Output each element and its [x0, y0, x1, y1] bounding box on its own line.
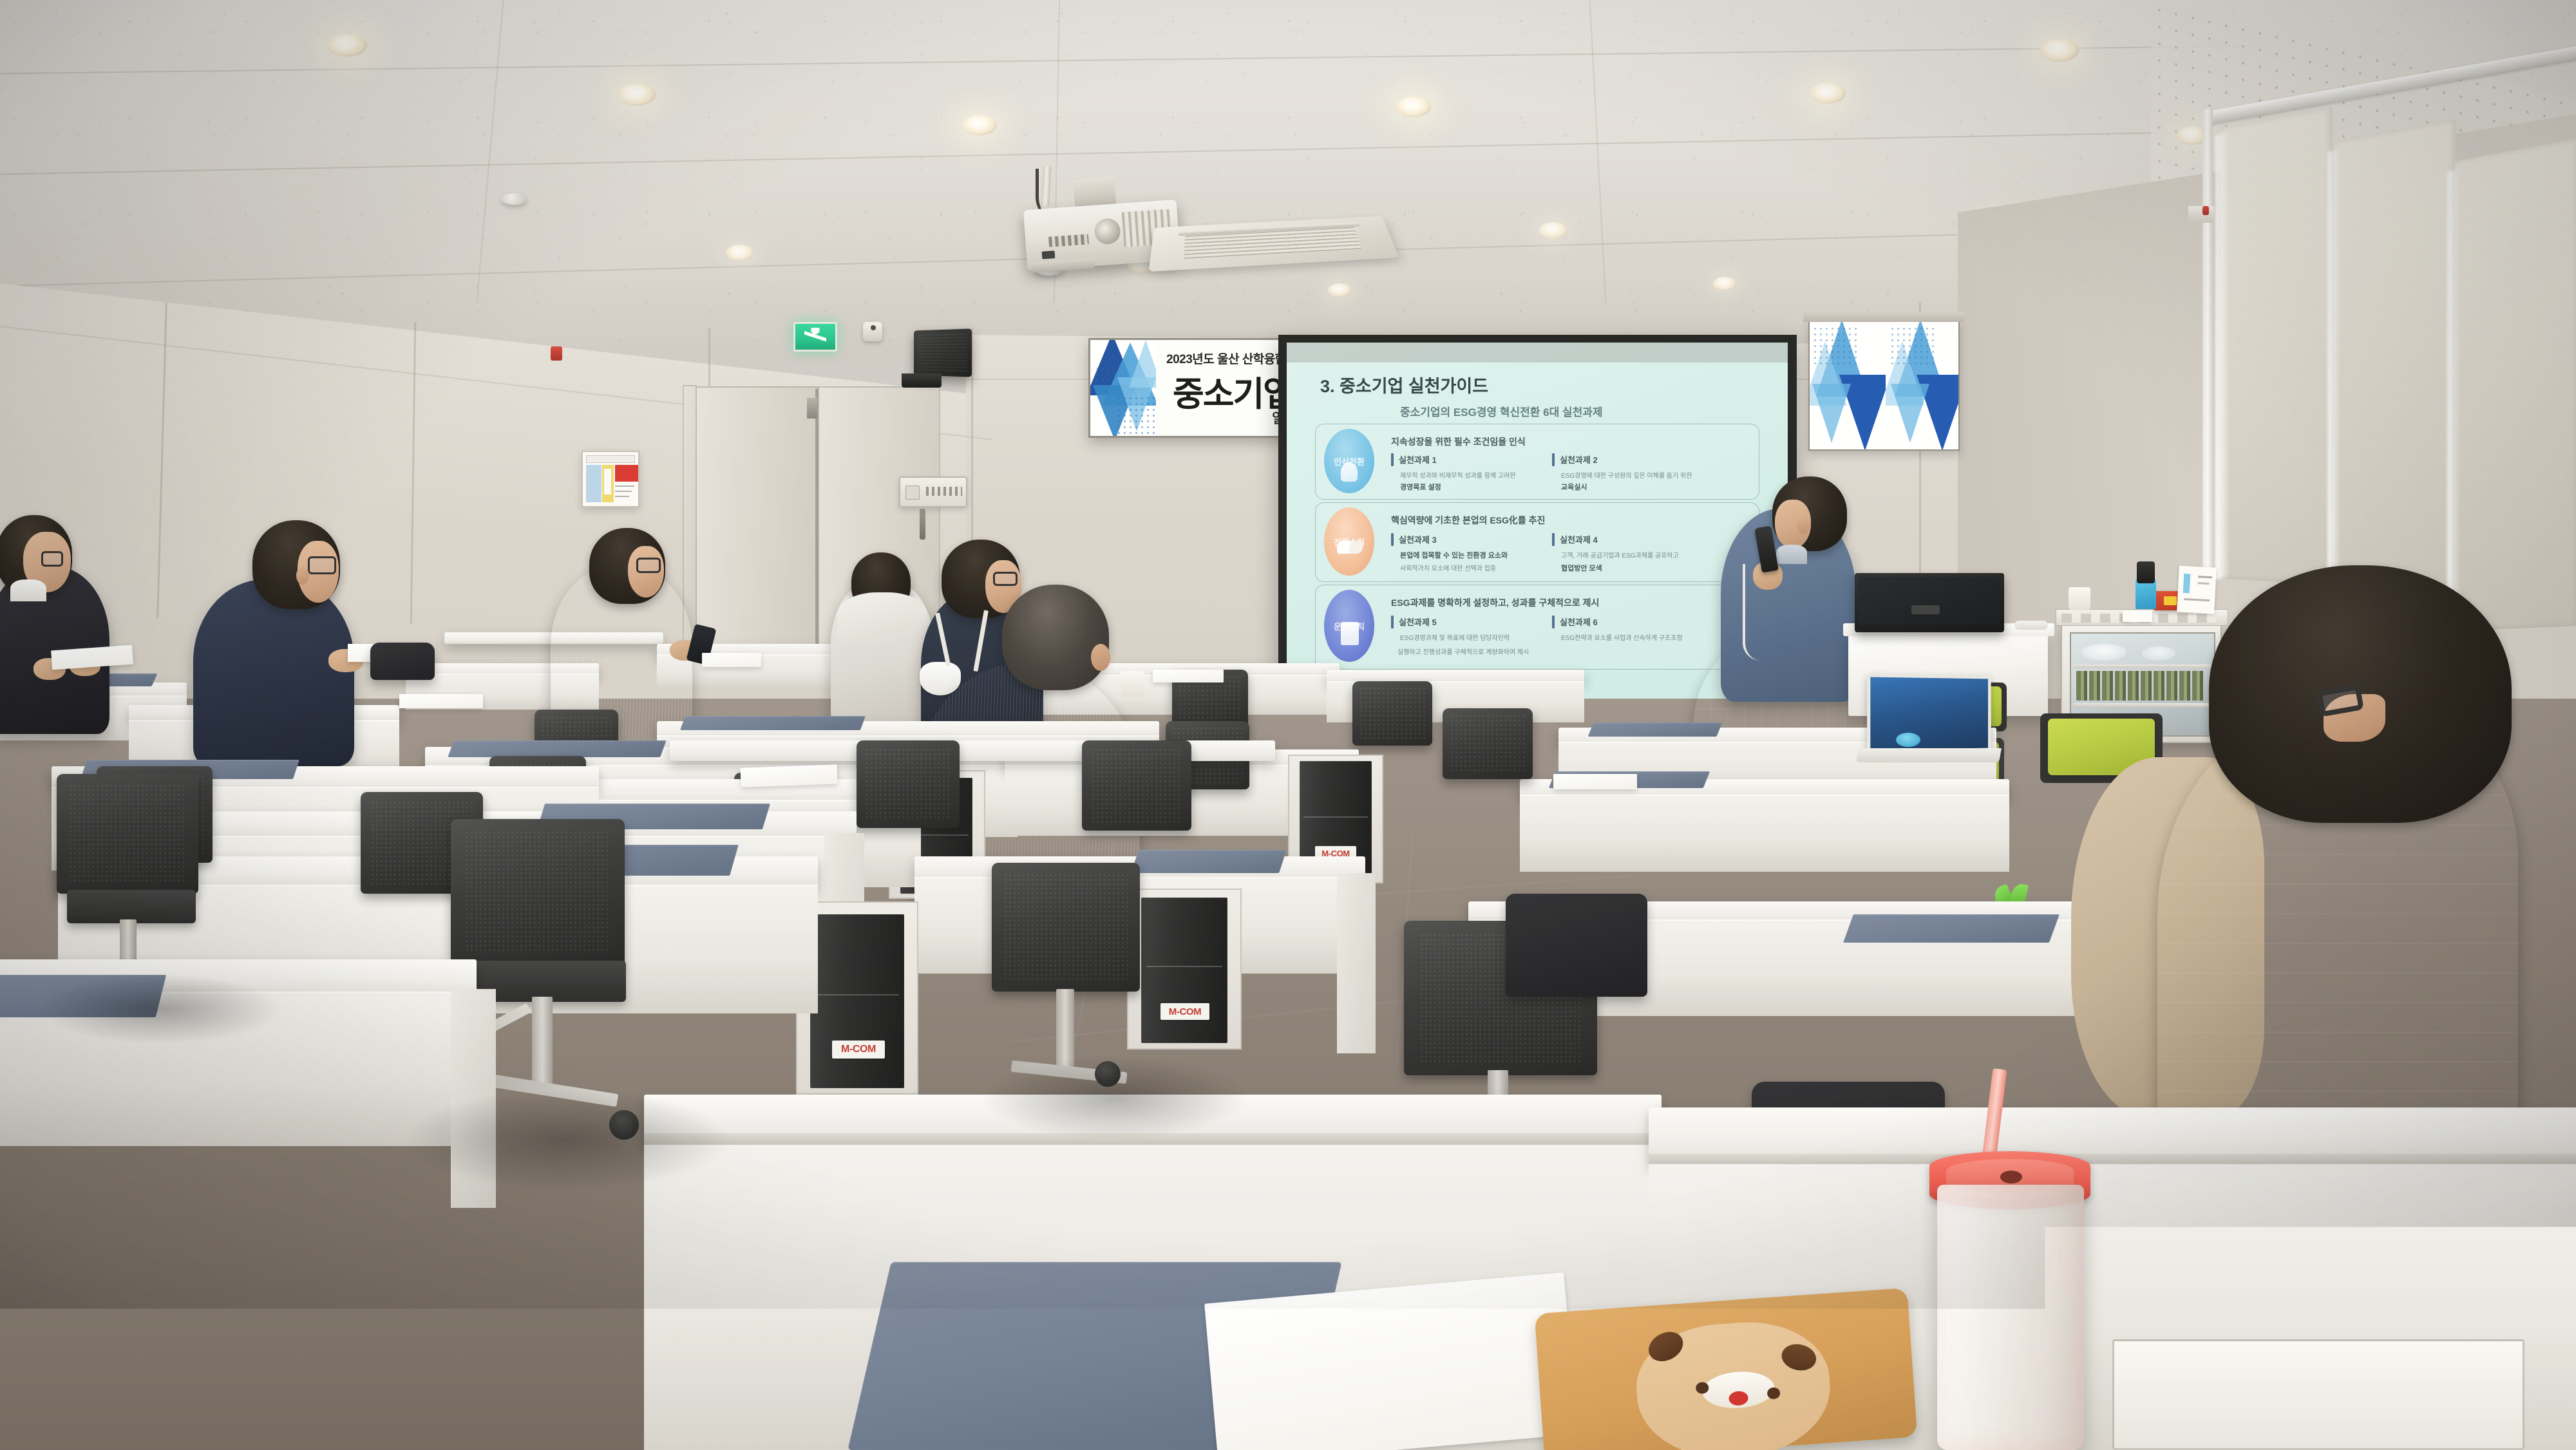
desk-paper [1153, 670, 1224, 683]
chair-back[interactable] [1082, 740, 1191, 831]
row1-task2-line2: 교육실시 [1561, 482, 1587, 492]
paper-cup [2069, 587, 2090, 610]
insulated-tumbler[interactable] [1937, 1185, 2084, 1450]
slide-title: 3. 중소기업 실천가이드 [1320, 372, 1488, 397]
slide-subtitle: 중소기업의 ESG경영 혁신전환 6대 실천과제 [1400, 403, 1603, 419]
pc-brand-label: M-COM [1160, 1003, 1209, 1020]
chair-seat[interactable] [67, 890, 196, 923]
row1-lead: 지속성장을 위한 필수 조건임을 인식 [1391, 435, 1526, 448]
ceiling-downlight [726, 245, 753, 261]
ceiling-downlight [1810, 82, 1846, 104]
row3-lead: ESG과제를 명확하게 설정하고, 성과를 구체적으로 제시 [1391, 596, 1599, 609]
attendee-6-ear [1091, 644, 1110, 671]
task-bar [1391, 533, 1394, 546]
attendee-3-glasses [636, 558, 661, 573]
chair-back[interactable] [1443, 708, 1533, 779]
row1-task2-title: 실천과제 2 [1560, 453, 1598, 466]
desk-mat [1588, 722, 1723, 737]
handshake-icon [1337, 541, 1363, 554]
laptop-accessory [1896, 733, 1920, 747]
chair-shadow [979, 1056, 1249, 1140]
bear-character-pad [1535, 1288, 1918, 1450]
chair-post [532, 997, 553, 1091]
attendee-2-ear [296, 567, 309, 585]
chair-back[interactable] [992, 863, 1140, 992]
ceiling-downlight [2040, 39, 2079, 62]
podium-cable-grommet [2014, 621, 2048, 630]
tumbler-straw-hole [2000, 1171, 2022, 1183]
fire-evacuation-map [582, 451, 639, 507]
presenter-ear [1797, 516, 1810, 534]
window-alarm-dot [2202, 206, 2209, 215]
lightbulb-icon [1341, 462, 1358, 482]
attendee-3-document [702, 653, 761, 667]
backpack[interactable] [1506, 894, 1647, 997]
task-bar [1552, 533, 1555, 546]
foreground-paper [1204, 1272, 1578, 1450]
fire-alarm-indicator [551, 346, 562, 361]
presenter-collar [1776, 545, 1807, 564]
attendee-1-collar [10, 579, 46, 601]
ceiling-downlight [1396, 97, 1431, 117]
row3-task1-line2: 실행하고 진행성과를 구체적으로 계량화하여 제시 [1397, 646, 1529, 656]
row2-task2-line1: 고객, 거래·공급기업과 ESG과제를 공유하고 [1561, 550, 1679, 560]
row2-task2-line2: 협업방안 모색 [1561, 563, 1602, 573]
door-gap [815, 389, 818, 654]
window-latch[interactable] [2188, 206, 2214, 223]
motion-sensor [863, 322, 882, 341]
seminar-room-photo: 2023년도 울산 산학융합 촉진 지원사업 중소기업이 일자 : 3. 중소기… [0, 0, 2576, 1450]
pc-tower[interactable]: M-COM [810, 914, 904, 1088]
desk-panel-inset [2112, 1339, 2524, 1450]
row2-lead: 핵심역량에 기초한 본업의 ESG化를 추진 [1391, 514, 1545, 527]
door-hinge [807, 398, 817, 419]
attendee-6-head [1002, 585, 1109, 690]
task-bar [1552, 616, 1555, 628]
row3-task2-title: 실천과제 6 [1560, 616, 1598, 628]
classroom-door-left[interactable] [696, 386, 818, 655]
ceiling-downlight [327, 33, 367, 57]
poster-rail [1803, 312, 1964, 322]
podium-monitor[interactable] [1855, 573, 2004, 632]
laptop-screen[interactable] [1867, 673, 1991, 753]
paper-cup-on-desk [1121, 671, 1144, 697]
pc-tower[interactable]: M-COM [1141, 898, 1227, 1043]
window-daylight-gap [2327, 149, 2340, 603]
window-daylight-gap [2447, 169, 2460, 622]
task-bar [1391, 453, 1394, 466]
chair-shadow [399, 1088, 734, 1191]
wall-notice-paper [2177, 566, 2217, 614]
door-handle[interactable] [920, 509, 925, 540]
window-mullion [2202, 108, 2213, 599]
desk-paper [399, 694, 483, 708]
chair-back[interactable] [57, 774, 198, 894]
chair-back[interactable] [857, 740, 960, 828]
attendee-2-torso [193, 579, 354, 766]
small-paper [2123, 610, 2152, 622]
ceiling-downlight [1713, 277, 1736, 290]
row2-task1-title: 실천과제 3 [1399, 533, 1437, 545]
attendee-4-hood [837, 592, 927, 643]
running-man-icon [804, 328, 826, 346]
smoke-detector [501, 193, 527, 205]
ceiling-downlight [1328, 283, 1351, 297]
slide-top-band [1287, 343, 1788, 362]
banner-geometric-graphic [1090, 340, 1156, 436]
row1-task1-line2: 경영목표 설정 [1400, 482, 1441, 492]
clipboard-checklist-icon [1341, 622, 1359, 645]
black-device [2137, 561, 2155, 583]
row2-task2-title: 실천과제 4 [1560, 533, 1598, 545]
emergency-exit-sign [793, 322, 837, 352]
row1-task2-line1: ESG경영에 대한 구성원의 깊은 이해를 돕기 위한 [1561, 470, 1692, 480]
window-blind-2[interactable] [2334, 119, 2456, 607]
pc-brand-label: M-COM [832, 1040, 885, 1059]
chair-back[interactable] [451, 819, 625, 966]
microphone-cable [1743, 564, 1761, 661]
ceiling-downlight [1539, 222, 1567, 239]
attendee-5-glasses [993, 572, 1018, 586]
chair-back[interactable] [1352, 681, 1432, 746]
row2-task1-line1: 본업에 접목할 수 있는 친환경 요소와 [1400, 550, 1508, 560]
ceiling-downlight [962, 115, 997, 135]
side-banner-panel [1808, 321, 1960, 451]
attendee-1-glasses [41, 551, 63, 567]
desk-mat [448, 740, 666, 757]
desk-mat [680, 716, 866, 730]
chair-shadow [39, 974, 283, 1044]
blue-box [2136, 579, 2156, 609]
attendee-2-bag [370, 643, 435, 680]
speaker-bracket [902, 373, 942, 388]
row2-task1-line2: 사회적가치 요소에 대한 선택과 집중 [1400, 563, 1496, 572]
desk-mat [1843, 914, 2060, 943]
laptop-base[interactable] [1856, 748, 2002, 762]
window-blind-1[interactable] [2221, 107, 2333, 586]
window-daylight-gap [2215, 133, 2230, 579]
badge-icon-1: 인식전환 [1324, 429, 1374, 493]
projection-screen: 3. 중소기업 실천가이드 중소기업의 ESG경영 혁신전환 6대 실천과제 인… [1287, 343, 1788, 707]
ceiling-downlight [618, 84, 656, 106]
desk-paper [1553, 774, 1637, 789]
desk-edge [1649, 1154, 2576, 1164]
row1-task1-title: 실천과제 1 [1399, 453, 1437, 466]
desk-mat [1131, 850, 1287, 873]
desk-front-panel [1520, 795, 2009, 872]
row3-task1-title: 실천과제 5 [1399, 616, 1437, 628]
desk-paper [741, 764, 838, 787]
slide-canvas: 3. 중소기업 실천가이드 중소기업의 ESG경영 혁신전환 6대 실천과제 인… [1287, 343, 1788, 707]
row3-task2-line1: ESG전략과 요소를 사업과 신속하게 구조조정 [1561, 632, 1683, 642]
desk-side-panel [1337, 873, 1376, 1053]
slide-card-row1 [1315, 424, 1759, 500]
task-bar [1552, 453, 1555, 466]
wall-control-panel[interactable] [899, 476, 967, 507]
window-blind-3[interactable] [2455, 138, 2576, 631]
row3-task1-line1: ESG경영과제 및 목표에 대한 담당자인력 [1400, 632, 1510, 642]
row1-task1-line1: 재무적 성과와 비재무적 성과를 함께 고려한 [1400, 470, 1516, 480]
task-bar [1391, 616, 1394, 628]
attendee-2-glasses [308, 556, 336, 574]
wall-speaker [914, 328, 972, 377]
event-banner: 2023년도 울산 산학융합 촉진 지원사업 중소기업이 일자 : [1088, 338, 1311, 438]
